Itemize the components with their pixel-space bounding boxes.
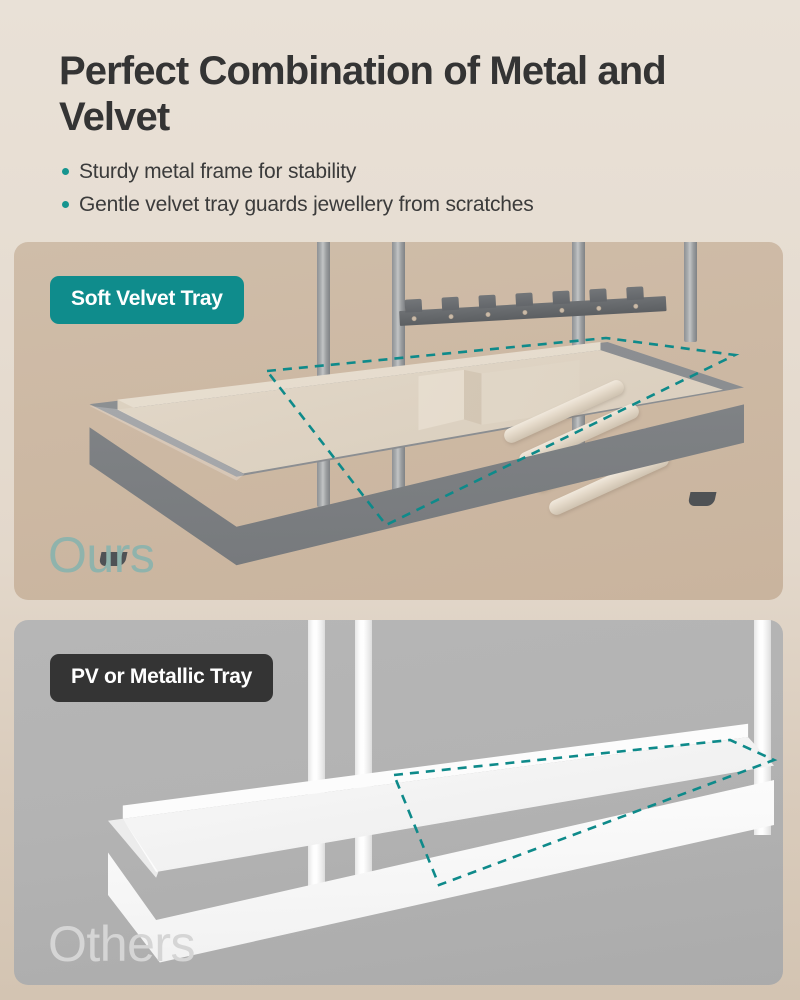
hanger-tooth bbox=[478, 295, 496, 309]
hanger-tooth bbox=[552, 290, 570, 304]
watermark-others: Others bbox=[48, 915, 195, 973]
list-item: Sturdy metal frame for stability bbox=[62, 157, 762, 187]
watermark-ours: Ours bbox=[48, 526, 154, 584]
hanger-tooth bbox=[441, 297, 459, 311]
page-title: Perfect Combination of Metal and Velvet bbox=[59, 48, 759, 141]
hanger-tooth bbox=[626, 286, 644, 300]
hanger-tooth bbox=[589, 288, 607, 302]
badge-soft-velvet-tray: Soft Velvet Tray bbox=[50, 276, 244, 324]
bullet-dot-icon bbox=[62, 201, 69, 208]
bullet-dot-icon bbox=[62, 168, 69, 175]
bullet-text: Gentle velvet tray guards jewellery from… bbox=[79, 190, 534, 220]
feature-bullet-list: Sturdy metal frame for stability Gentle … bbox=[62, 157, 762, 223]
bullet-text: Sturdy metal frame for stability bbox=[79, 157, 356, 187]
comparison-panel-others: PV or Metallic Tray Others bbox=[14, 620, 783, 985]
hanger-tooth bbox=[515, 293, 533, 307]
tray-foot bbox=[688, 492, 717, 506]
metal-post bbox=[684, 242, 697, 342]
comparison-panel-ours: Soft Velvet Tray Ours bbox=[14, 242, 783, 600]
list-item: Gentle velvet tray guards jewellery from… bbox=[62, 190, 762, 220]
badge-pv-or-metallic-tray: PV or Metallic Tray bbox=[50, 654, 273, 702]
hanger-tooth bbox=[405, 299, 423, 313]
hanger-bar-body bbox=[399, 296, 666, 326]
header-section: Perfect Combination of Metal and Velvet … bbox=[0, 0, 800, 232]
jewellery-hanger-bar bbox=[398, 275, 667, 326]
